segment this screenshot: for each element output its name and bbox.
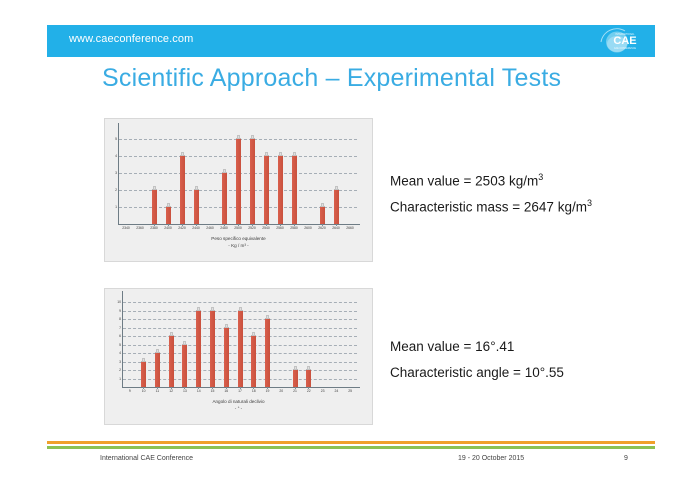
x-axis-tick-mark — [196, 224, 197, 226]
bar — [236, 138, 241, 224]
x-axis-tick-mark — [157, 387, 158, 389]
y-axis-tick: 3 — [115, 171, 117, 175]
y-axis-tick: 5 — [115, 137, 117, 141]
bar — [169, 335, 174, 387]
x-axis-tick-mark — [154, 224, 155, 226]
bar — [180, 155, 185, 224]
y-axis-tick: 1 — [119, 377, 121, 381]
x-axis-tick-mark — [224, 224, 225, 226]
note-mean-angle: Mean value = 16°.41 — [390, 339, 514, 354]
note-characteristic-mass-sup: 3 — [587, 198, 592, 208]
bar-cap — [335, 186, 338, 190]
x-axis-tick-mark — [182, 224, 183, 226]
x-axis-tick: 2540 — [262, 226, 270, 230]
x-axis-tick: 2580 — [290, 226, 298, 230]
bar — [238, 310, 243, 387]
x-axis-tick: 2440 — [192, 226, 200, 230]
chart1-plot-area: 1234523402360238024002420244024602480250… — [119, 129, 357, 224]
x-axis-tick-mark — [184, 387, 185, 389]
bar-cap — [293, 152, 296, 156]
bar-cap — [170, 332, 173, 336]
bar — [334, 189, 339, 224]
bar — [222, 172, 227, 224]
note-characteristic-angle-text: Characteristic angle = 10°.55 — [390, 365, 564, 380]
x-axis-tick-mark — [308, 387, 309, 389]
chart1-xlabel-units: - Kg / m³ - — [105, 243, 372, 250]
x-axis-tick-mark — [171, 387, 172, 389]
note-mean-mass-text: Mean value = 2503 kg/m — [390, 174, 538, 189]
x-axis-tick-mark — [294, 224, 295, 226]
bar-cap — [252, 332, 255, 336]
x-axis-tick-mark — [226, 387, 227, 389]
conference-url[interactable]: www.caeconference.com — [69, 33, 193, 45]
y-axis-tick: 8 — [119, 317, 121, 321]
footer-page-number: 9 — [624, 455, 628, 462]
bar-cap — [307, 366, 310, 370]
bar — [166, 206, 171, 224]
x-axis-tick: 24 — [334, 389, 338, 393]
y-axis-tick: 2 — [115, 188, 117, 192]
note-characteristic-mass-text: Characteristic mass = 2647 kg/m — [390, 200, 587, 215]
bar — [320, 206, 325, 224]
bar — [250, 138, 255, 224]
footer-rule-orange — [47, 441, 655, 444]
footer-date: 19 - 20 October 2015 — [458, 455, 524, 462]
bar-cap — [225, 324, 228, 328]
x-axis-tick-mark — [280, 224, 281, 226]
x-axis-tick: 2600 — [304, 226, 312, 230]
bar-cap — [142, 358, 145, 362]
gridline — [123, 302, 357, 303]
svg-text:CAE: CAE — [613, 35, 636, 47]
bar — [265, 318, 270, 387]
y-axis-tick: 5 — [119, 343, 121, 347]
x-axis-tick: 2460 — [206, 226, 214, 230]
x-axis-tick: 2400 — [164, 226, 172, 230]
note-mean-mass: Mean value = 2503 kg/m3 — [390, 172, 543, 189]
page-title: Scientific Approach – Experimental Tests — [102, 64, 561, 93]
note-characteristic-mass: Characteristic mass = 2647 kg/m3 — [390, 198, 592, 215]
bar — [306, 369, 311, 387]
bar — [141, 361, 146, 387]
x-axis-tick: 2340 — [122, 226, 130, 230]
x-axis-tick: 15 — [211, 389, 215, 393]
x-axis-tick: 20 — [279, 389, 283, 393]
bar — [251, 335, 256, 387]
bar — [292, 155, 297, 224]
bar — [152, 189, 157, 224]
x-axis-tick-mark — [143, 387, 144, 389]
x-axis-tick: 2380 — [150, 226, 158, 230]
x-axis-tick: 21 — [293, 389, 297, 393]
bar-cap — [237, 135, 240, 139]
x-axis-tick-mark — [322, 224, 323, 226]
note-mean-mass-sup: 3 — [538, 172, 543, 182]
x-axis-tick-mark — [295, 387, 296, 389]
bar-cap — [195, 186, 198, 190]
x-axis-tick: 2640 — [332, 226, 340, 230]
y-axis-tick: 10 — [117, 300, 121, 304]
x-axis-tick: 2360 — [136, 226, 144, 230]
svg-text:CAE CONFERENCE: CAE CONFERENCE — [614, 47, 637, 50]
x-axis-tick: 2620 — [318, 226, 326, 230]
x-axis-tick: 9 — [129, 389, 131, 393]
bar — [182, 344, 187, 387]
x-axis-tick: 12 — [169, 389, 173, 393]
y-axis-tick: 3 — [119, 360, 121, 364]
bar-cap — [183, 341, 186, 345]
bar — [224, 327, 229, 387]
bar-cap — [279, 152, 282, 156]
bar — [196, 310, 201, 387]
x-axis-tick: 13 — [183, 389, 187, 393]
x-axis-tick-mark — [336, 224, 337, 226]
x-axis-tick: 14 — [197, 389, 201, 393]
x-axis-tick-mark — [266, 224, 267, 226]
x-axis-tick-mark — [253, 387, 254, 389]
header-bar: www.caeconference.com CAE INTERNATIONAL … — [47, 25, 655, 57]
chart-angolo-declivio: 1234567891091011121314151617181920212223… — [104, 288, 373, 425]
x-axis-tick: 11 — [156, 389, 160, 393]
y-axis-tick: 9 — [119, 309, 121, 313]
x-axis-tick: 2420 — [178, 226, 186, 230]
chart-peso-specifico: 1234523402360238024002420244024602480250… — [104, 118, 373, 262]
chart2-axis-caption: Angolo di naturali declivio - ° - — [105, 399, 372, 413]
chart1-axis-caption: Peso specifico equivalente - Kg / m³ - — [105, 236, 372, 250]
x-axis-tick: 2560 — [276, 226, 284, 230]
x-axis-tick: 2520 — [248, 226, 256, 230]
x-axis-tick: 2500 — [234, 226, 242, 230]
chart1-xlabel: Peso specifico equivalente — [105, 236, 372, 243]
x-axis-tick-mark — [238, 224, 239, 226]
svg-text:INTERNATIONAL: INTERNATIONAL — [616, 33, 636, 36]
y-axis-tick: 4 — [115, 154, 117, 158]
y-axis-tick: 1 — [115, 205, 117, 209]
bar-cap — [153, 186, 156, 190]
x-axis-tick: 17 — [238, 389, 242, 393]
y-axis-tick: 2 — [119, 368, 121, 372]
slide: www.caeconference.com CAE INTERNATIONAL … — [0, 0, 700, 497]
y-axis-line — [122, 291, 123, 387]
y-axis-tick: 7 — [119, 326, 121, 330]
chart2-plot-area: 1234567891091011121314151617181920212223… — [123, 297, 357, 387]
bar-cap — [167, 203, 170, 207]
y-axis-tick: 6 — [119, 334, 121, 338]
x-axis-tick: 2480 — [220, 226, 228, 230]
note-mean-angle-text: Mean value = 16°.41 — [390, 339, 514, 354]
bar — [293, 369, 298, 387]
bar — [264, 155, 269, 224]
x-axis-tick: 16 — [224, 389, 228, 393]
bar-cap — [156, 349, 159, 353]
bar-cap — [223, 169, 226, 173]
x-axis-tick-mark — [198, 387, 199, 389]
x-axis-tick-mark — [168, 224, 169, 226]
y-axis-tick: 4 — [119, 351, 121, 355]
x-axis-tick: 23 — [321, 389, 325, 393]
bar-cap — [251, 135, 254, 139]
note-characteristic-angle: Characteristic angle = 10°.55 — [390, 365, 564, 380]
x-axis-tick: 2660 — [346, 226, 354, 230]
x-axis-tick: 22 — [307, 389, 311, 393]
x-axis-tick-mark — [267, 387, 268, 389]
bar-cap — [211, 307, 214, 311]
bar — [155, 352, 160, 387]
bar-cap — [181, 152, 184, 156]
bar-cap — [197, 307, 200, 311]
x-axis-tick-mark — [252, 224, 253, 226]
cae-logo: CAE INTERNATIONAL CAE CONFERENCE — [595, 27, 643, 55]
x-axis-tick: 19 — [266, 389, 270, 393]
bar-cap — [266, 315, 269, 319]
x-axis-tick: 18 — [252, 389, 256, 393]
x-axis-tick: 25 — [348, 389, 352, 393]
footer-conference-name: International CAE Conference — [100, 455, 193, 462]
x-axis-tick: 10 — [142, 389, 146, 393]
bar-cap — [265, 152, 268, 156]
bar-cap — [321, 203, 324, 207]
chart2-xlabel-units: - ° - — [105, 406, 372, 413]
bar — [278, 155, 283, 224]
bar-cap — [239, 307, 242, 311]
bar — [210, 310, 215, 387]
x-axis-tick-mark — [240, 387, 241, 389]
footer-rule-green — [47, 446, 655, 449]
bar-cap — [294, 366, 297, 370]
bar — [194, 189, 199, 224]
x-axis-tick-mark — [212, 387, 213, 389]
chart2-xlabel: Angolo di naturali declivio — [105, 399, 372, 406]
